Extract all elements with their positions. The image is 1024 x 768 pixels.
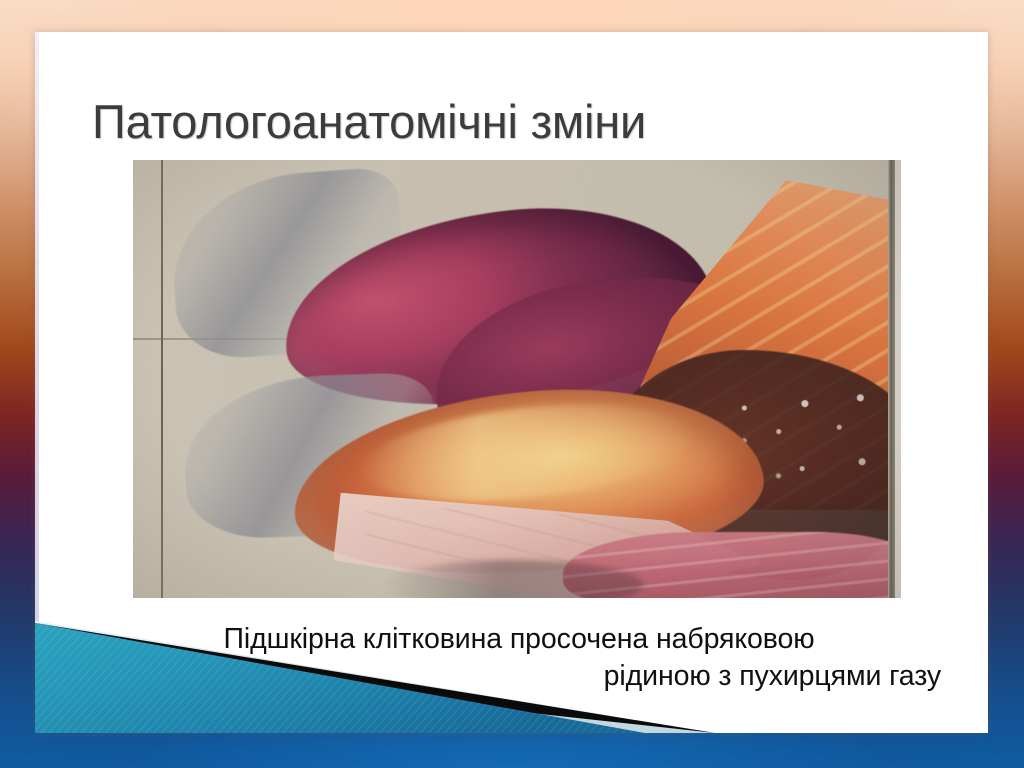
slide-canvas: Патологоанатомічні зміни (0, 0, 1024, 768)
anatomical-photo (133, 160, 901, 598)
anatomical-photo-image (133, 160, 901, 598)
plate-right-edge (888, 160, 895, 598)
slide-content-card: Патологоанатомічні зміни (35, 32, 988, 733)
plate-right-margin (895, 160, 901, 598)
image-caption: Підшкірна клітковина просочена набряково… (95, 621, 943, 695)
caption-line-2: рідиною з пухирцями газу (95, 658, 943, 695)
plate-vertical-rule (161, 160, 163, 598)
caption-line-1: Підшкірна клітковина просочена набряково… (95, 621, 943, 658)
page-title: Патологоанатомічні зміни (92, 97, 932, 146)
